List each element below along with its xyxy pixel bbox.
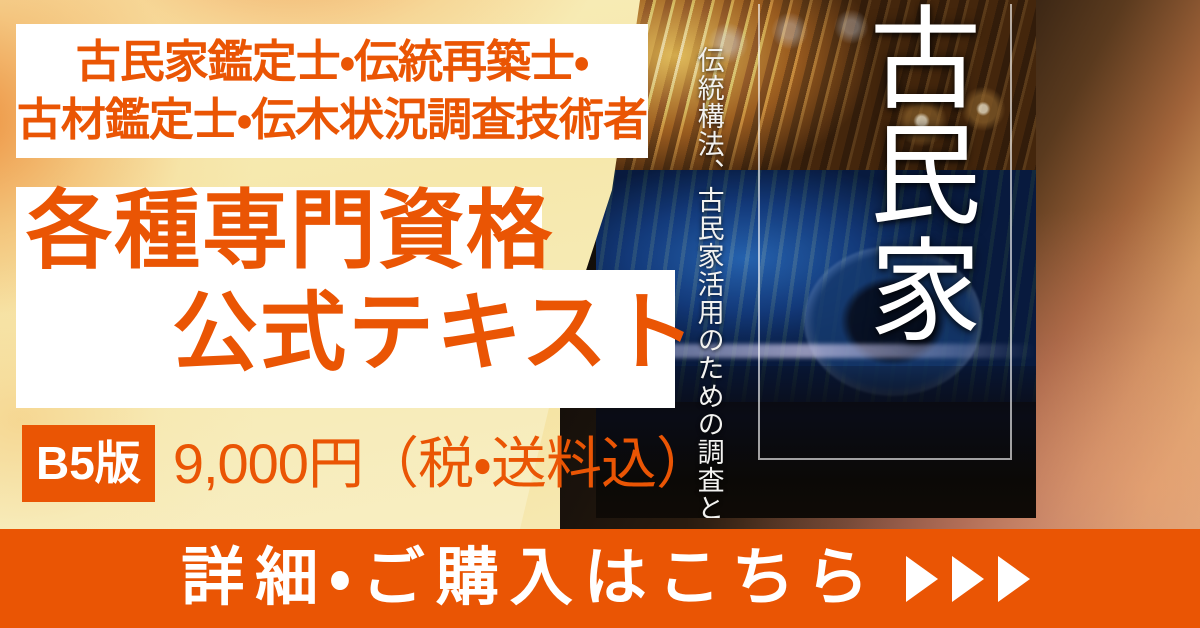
kicker-text: 古民家鑑定士・伝統再築士・ 古材鑑定士・伝木状況調査技術者: [18, 24, 648, 158]
size-badge: B5版: [22, 425, 155, 502]
cta-bar[interactable]: 詳細・ご購入はこちら: [0, 529, 1200, 628]
play-arrow-icon-2: [952, 556, 984, 602]
play-arrow-icon-3: [998, 556, 1030, 602]
price-row: B5版 9,000円（税・送料込）: [22, 425, 711, 502]
book-cover-title: 古民家: [842, 0, 985, 348]
play-arrow-icon-1: [906, 556, 938, 602]
price-value: 9,000円（税・送料込）: [173, 436, 711, 492]
promo-banner: 伝統構法、古民家活用のための調査と再生の 古民家 古民家鑑定士・伝統再築士・ 古…: [0, 0, 1200, 628]
headline-line-2: 公式テキスト: [172, 290, 697, 376]
cta-arrow-group: [906, 556, 1030, 602]
kicker-line-1: 古民家鑑定士・伝統再築士・: [78, 33, 589, 92]
headline-line-1: 各種専門資格: [26, 188, 554, 274]
kicker-line-2: 古材鑑定士・伝木状況調査技術者: [19, 91, 647, 150]
cta-label: 詳細・ご購入はこちら: [170, 547, 879, 610]
